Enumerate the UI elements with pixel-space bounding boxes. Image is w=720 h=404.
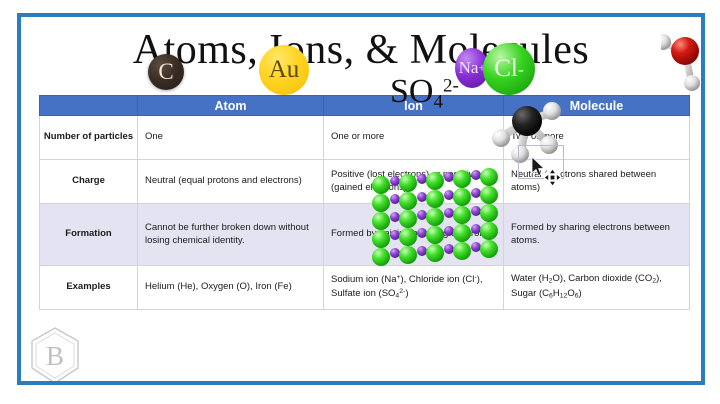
row-label-number-of-particles: Number of particles — [40, 116, 138, 160]
slide-canvas: Atoms, Ions, & Molecules Atom Ion Molecu… — [17, 13, 705, 385]
table-row: Number of particles One One or more Two … — [40, 116, 690, 160]
row-label-formation: Formation — [40, 204, 138, 266]
row-label-examples: Examples — [40, 266, 138, 310]
mol-example-text-b: O), Carbon dioxide (CO — [552, 273, 652, 284]
chloride-ion-charge: - — [518, 59, 524, 80]
sodium-chloride-lattice-image[interactable] — [365, 159, 515, 274]
ion-example-text-b: ), Chloride ion (Cl — [400, 274, 474, 285]
cell-atom-charge: Neutral (equal protons and electrons) — [138, 160, 324, 204]
ion-example-text-d: ) — [405, 288, 408, 299]
mol-example-text-d: H — [553, 288, 560, 299]
cell-molecule-examples: Water (H2O), Carbon dioxide (CO2), Sugar… — [504, 266, 690, 310]
watermark-logo: B — [27, 325, 83, 385]
mol-example-text-f: ) — [579, 288, 582, 299]
sulfate-superscript: 2- — [443, 76, 459, 97]
move-handle-icon[interactable] — [544, 169, 561, 186]
page-title: Atoms, Ions, & Molecules — [21, 21, 701, 79]
mol-example-text-a: Water (H — [511, 273, 549, 284]
sodium-ion-label: Na — [459, 58, 479, 78]
table-header-row: Atom Ion Molecule — [40, 96, 690, 116]
mol-example-text-e: O — [567, 288, 574, 299]
carbon-atom-icon[interactable]: C — [148, 54, 184, 90]
cell-atom-formation: Cannot be further broken down without lo… — [138, 204, 324, 266]
ion-example-text-a: Sodium ion (Na — [331, 274, 396, 285]
row-label-charge: Charge — [40, 160, 138, 204]
cell-ion-particles: One or more — [324, 116, 504, 160]
comparison-table-wrap: Atom Ion Molecule Number of particles On… — [39, 95, 689, 310]
column-header-blank — [40, 96, 138, 116]
sulfate-formula-label: SO42- — [390, 73, 459, 113]
watermark-letter: B — [46, 341, 64, 371]
sulfate-formula-text: SO — [390, 73, 433, 110]
gold-atom-icon[interactable]: Au — [259, 45, 309, 95]
sulfate-subscript: 4 — [433, 91, 443, 112]
chloride-ion-label: Cl — [494, 55, 518, 83]
water-molecule-image[interactable] — [661, 33, 705, 95]
column-header-atom: Atom — [138, 96, 324, 116]
cell-atom-particles: One — [138, 116, 324, 160]
cell-molecule-formation: Formed by sharing electrons between atom… — [504, 204, 690, 266]
chloride-ion-icon[interactable]: Cl- — [483, 43, 535, 95]
cell-atom-examples: Helium (He), Oxygen (O), Iron (Fe) — [138, 266, 324, 310]
